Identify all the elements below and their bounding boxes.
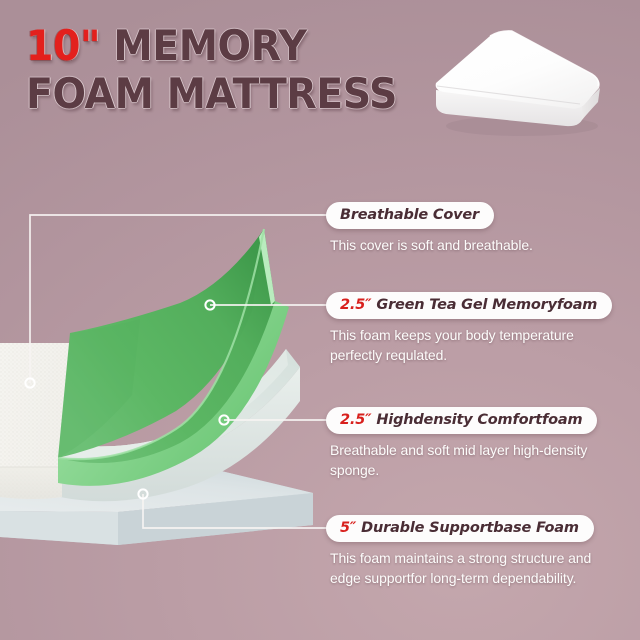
callout-pill-breathable-cover[interactable]: Breathable Cover <box>326 202 494 229</box>
callout-description-breathable-cover: This cover is soft and breathable. <box>330 236 533 256</box>
callout-highdensity-comfortfoam: 2.5″Highdensity Comfortfoam Breathable a… <box>326 407 605 480</box>
mattress-cutaway-illustration <box>0 215 330 555</box>
title-line-1: 10" MEMORY <box>26 22 421 70</box>
callout-durable-supportbase-foam: 5″Durable Supportbase Foam This foam mai… <box>326 515 620 588</box>
callout-label-green-tea-gel-memoryfoam: Green Tea Gel Memoryfoam <box>376 297 597 313</box>
callout-green-tea-gel-memoryfoam: 2.5″Green Tea Gel Memoryfoam This foam k… <box>326 292 612 365</box>
title-size-value: 10" <box>26 21 100 70</box>
callout-pill-highdensity-comfortfoam[interactable]: 2.5″Highdensity Comfortfoam <box>326 407 597 434</box>
callout-label-highdensity-comfortfoam: Highdensity Comfortfoam <box>376 412 582 428</box>
callout-label-breathable-cover: Breathable Cover <box>340 207 479 223</box>
callout-description-highdensity-comfortfoam: Breathable and soft mid layer high-densi… <box>330 441 605 480</box>
callout-measure-durable-supportbase-foam: 5″ <box>340 520 356 536</box>
callout-description-green-tea-gel-memoryfoam: This foam keeps your body temperature pe… <box>330 326 605 365</box>
page-title: 10" MEMORY FOAM MATTRESS <box>26 22 446 118</box>
callout-pill-durable-supportbase-foam[interactable]: 5″Durable Supportbase Foam <box>326 515 594 542</box>
callout-pill-green-tea-gel-memoryfoam[interactable]: 2.5″Green Tea Gel Memoryfoam <box>326 292 612 319</box>
callout-description-durable-supportbase-foam: This foam maintains a strong structure a… <box>330 549 620 588</box>
callout-measure-highdensity-comfortfoam: 2.5″ <box>340 412 371 428</box>
infographic-page: 10" MEMORY FOAM MATTRESS <box>0 0 640 640</box>
callout-breathable-cover: Breathable Cover This cover is soft and … <box>326 202 533 256</box>
callout-measure-green-tea-gel-memoryfoam: 2.5″ <box>340 297 371 313</box>
title-line-2: FOAM MATTRESS <box>26 70 421 118</box>
hero-mattress-image <box>430 26 610 141</box>
callout-label-durable-supportbase-foam: Durable Supportbase Foam <box>361 520 579 536</box>
title-line-1-rest: MEMORY <box>100 21 306 70</box>
